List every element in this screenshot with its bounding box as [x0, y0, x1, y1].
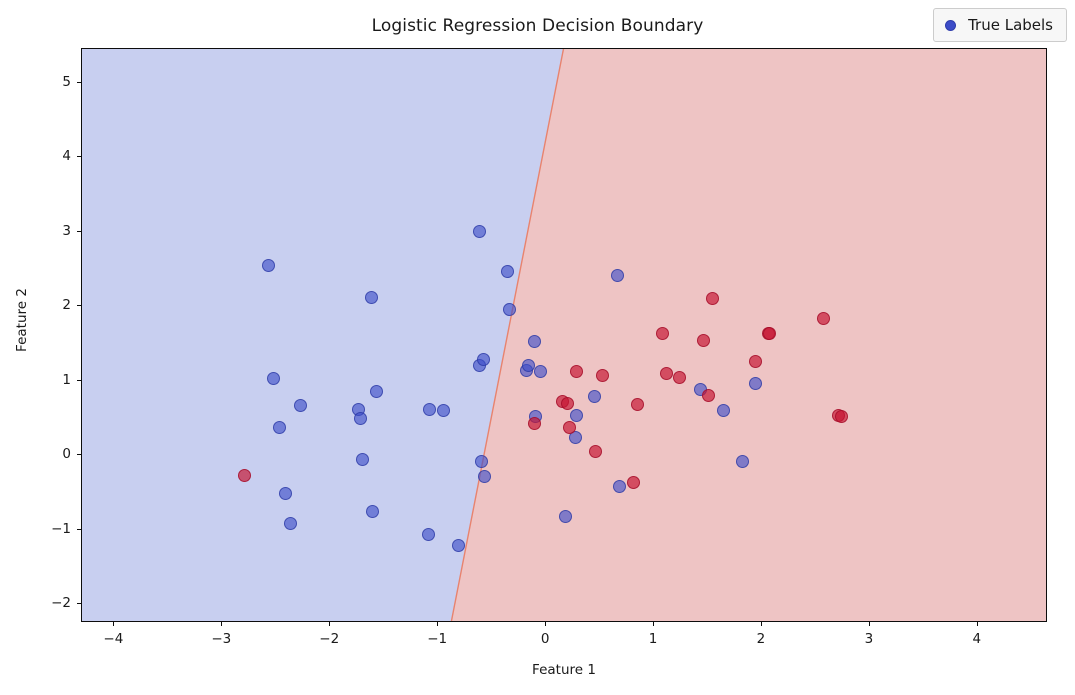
y-axis-tick-label: −1	[15, 521, 71, 537]
legend-item-label: True Labels	[968, 16, 1053, 34]
y-axis-tick	[77, 156, 81, 157]
scatter-point	[570, 365, 583, 378]
scatter-point	[354, 412, 367, 425]
scatter-point	[365, 291, 378, 304]
x-axis-tick	[329, 622, 330, 626]
scatter-point	[596, 369, 609, 382]
scatter-point	[561, 397, 574, 410]
x-axis-label: Feature 1	[81, 662, 1047, 678]
scatter-point	[528, 335, 541, 348]
x-axis-tick-label: 4	[973, 631, 982, 647]
x-axis-tick	[869, 622, 870, 626]
legend: True Labels	[933, 8, 1067, 42]
scatter-point	[706, 292, 719, 305]
x-axis-tick	[977, 622, 978, 626]
scatter-point	[588, 390, 601, 403]
x-axis-tick-label: −4	[103, 631, 123, 647]
x-axis-tick	[113, 622, 114, 626]
scatter-point	[627, 476, 640, 489]
x-axis-tick	[437, 622, 438, 626]
scatter-point	[702, 389, 715, 402]
scatter-point	[473, 225, 486, 238]
y-axis-tick	[77, 529, 81, 530]
x-axis-tick	[545, 622, 546, 626]
y-axis-tick-label: −2	[15, 595, 71, 611]
scatter-point	[501, 265, 514, 278]
scatter-point	[422, 528, 435, 541]
x-axis-tick	[761, 622, 762, 626]
y-axis-tick-label: 4	[15, 148, 71, 164]
plot-area	[81, 48, 1047, 622]
scatter-point	[267, 372, 280, 385]
scatter-point	[366, 505, 379, 518]
scatter-point	[262, 259, 275, 272]
x-axis-tick-label: −2	[319, 631, 339, 647]
scatter-point	[717, 404, 730, 417]
x-axis-tick-label: −1	[427, 631, 447, 647]
y-axis-label: Feature 2	[14, 280, 30, 360]
x-axis-tick-label: 3	[865, 631, 874, 647]
scatter-point	[559, 510, 572, 523]
y-axis-tick-label: 0	[15, 446, 71, 462]
figure-canvas: Logistic Regression Decision Boundary −4…	[0, 0, 1075, 695]
scatter-point	[570, 409, 583, 422]
page-title: Logistic Regression Decision Boundary	[0, 16, 1075, 36]
y-axis-tick	[77, 603, 81, 604]
scatter-point	[656, 327, 669, 340]
x-axis-tick-label: 0	[541, 631, 550, 647]
x-axis-tick	[221, 622, 222, 626]
scatter-point	[613, 480, 626, 493]
y-axis-tick-label: 1	[15, 372, 71, 388]
y-axis-tick-label: 3	[15, 223, 71, 239]
y-axis-tick-label: 5	[15, 74, 71, 90]
x-axis-tick-label: 1	[649, 631, 658, 647]
legend-marker-icon	[945, 20, 956, 31]
scatter-point	[749, 355, 762, 368]
y-axis-tick	[77, 454, 81, 455]
y-axis-tick	[77, 231, 81, 232]
x-axis-tick-label: −3	[211, 631, 231, 647]
scatter-point	[437, 404, 450, 417]
y-axis-tick	[77, 380, 81, 381]
y-axis-tick	[77, 305, 81, 306]
x-axis-tick-label: 2	[757, 631, 766, 647]
scatter-point	[611, 269, 624, 282]
y-axis-tick	[77, 82, 81, 83]
scatter-point	[294, 399, 307, 412]
scatter-point	[477, 353, 490, 366]
x-axis-tick	[653, 622, 654, 626]
